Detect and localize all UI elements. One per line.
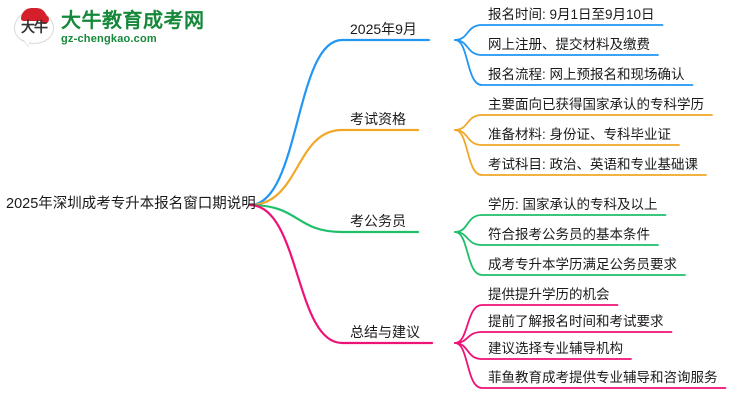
logo-title: 大牛教育成考网: [61, 11, 205, 32]
mindmap-leaf-3-3[interactable]: 成考专升本学历满足公务员要求: [488, 256, 677, 273]
logo-text-block: 大牛教育成考网 gz-chengkao.com: [61, 11, 205, 46]
mindmap-leaf-2-1[interactable]: 主要面向已获得国家承认的专科学历: [488, 96, 704, 113]
speech-bubble-tail: [23, 39, 31, 46]
mindmap-branch-2[interactable]: 考试资格: [350, 111, 406, 128]
mindmap-branch-3[interactable]: 考公务员: [350, 213, 406, 230]
mindmap-leaf-1-1[interactable]: 报名时间: 9月1日至9月10日: [488, 6, 655, 23]
mindmap-branch-1[interactable]: 2025年9月: [350, 21, 417, 38]
mindmap-leaf-3-1[interactable]: 学历: 国家承认的专科及以上: [488, 196, 658, 213]
mindmap-leaf-4-3[interactable]: 建议选择专业辅导机构: [488, 340, 623, 357]
mindmap-branch-4[interactable]: 总结与建议: [350, 324, 420, 341]
logo-subtitle: gz-chengkao.com: [61, 34, 205, 46]
mindmap-leaf-1-2[interactable]: 网上注册、提交材料及缴费: [488, 36, 650, 53]
mindmap-leaf-3-2[interactable]: 符合报考公务员的基本条件: [488, 226, 650, 243]
mindmap-canvas: 大牛 大牛教育成考网 gz-chengkao.com 2025年深圳成考专升本报…: [0, 0, 750, 410]
site-logo: 大牛 大牛教育成考网 gz-chengkao.com: [14, 8, 205, 48]
connector-line: [250, 130, 418, 205]
mindmap-leaf-1-3[interactable]: 报名流程: 网上预报名和现场确认: [488, 66, 685, 83]
logo-mark-icon: 大牛: [14, 8, 54, 48]
logo-mark-text: 大牛: [14, 19, 54, 35]
mindmap-leaf-4-1[interactable]: 提供提升学历的机会: [488, 286, 610, 303]
mindmap-leaf-2-2[interactable]: 准备材料: 身份证、专科毕业证: [488, 126, 671, 143]
mindmap-leaf-2-3[interactable]: 考试科目: 政治、英语和专业基础课: [488, 156, 698, 173]
mindmap-leaf-4-2[interactable]: 提前了解报名时间和考试要求: [488, 313, 664, 330]
mindmap-leaf-4-4[interactable]: 菲鱼教育成考提供专业辅导和咨询服务: [488, 369, 718, 386]
mindmap-root-node[interactable]: 2025年深圳成考专升本报名窗口期说明: [6, 195, 256, 213]
